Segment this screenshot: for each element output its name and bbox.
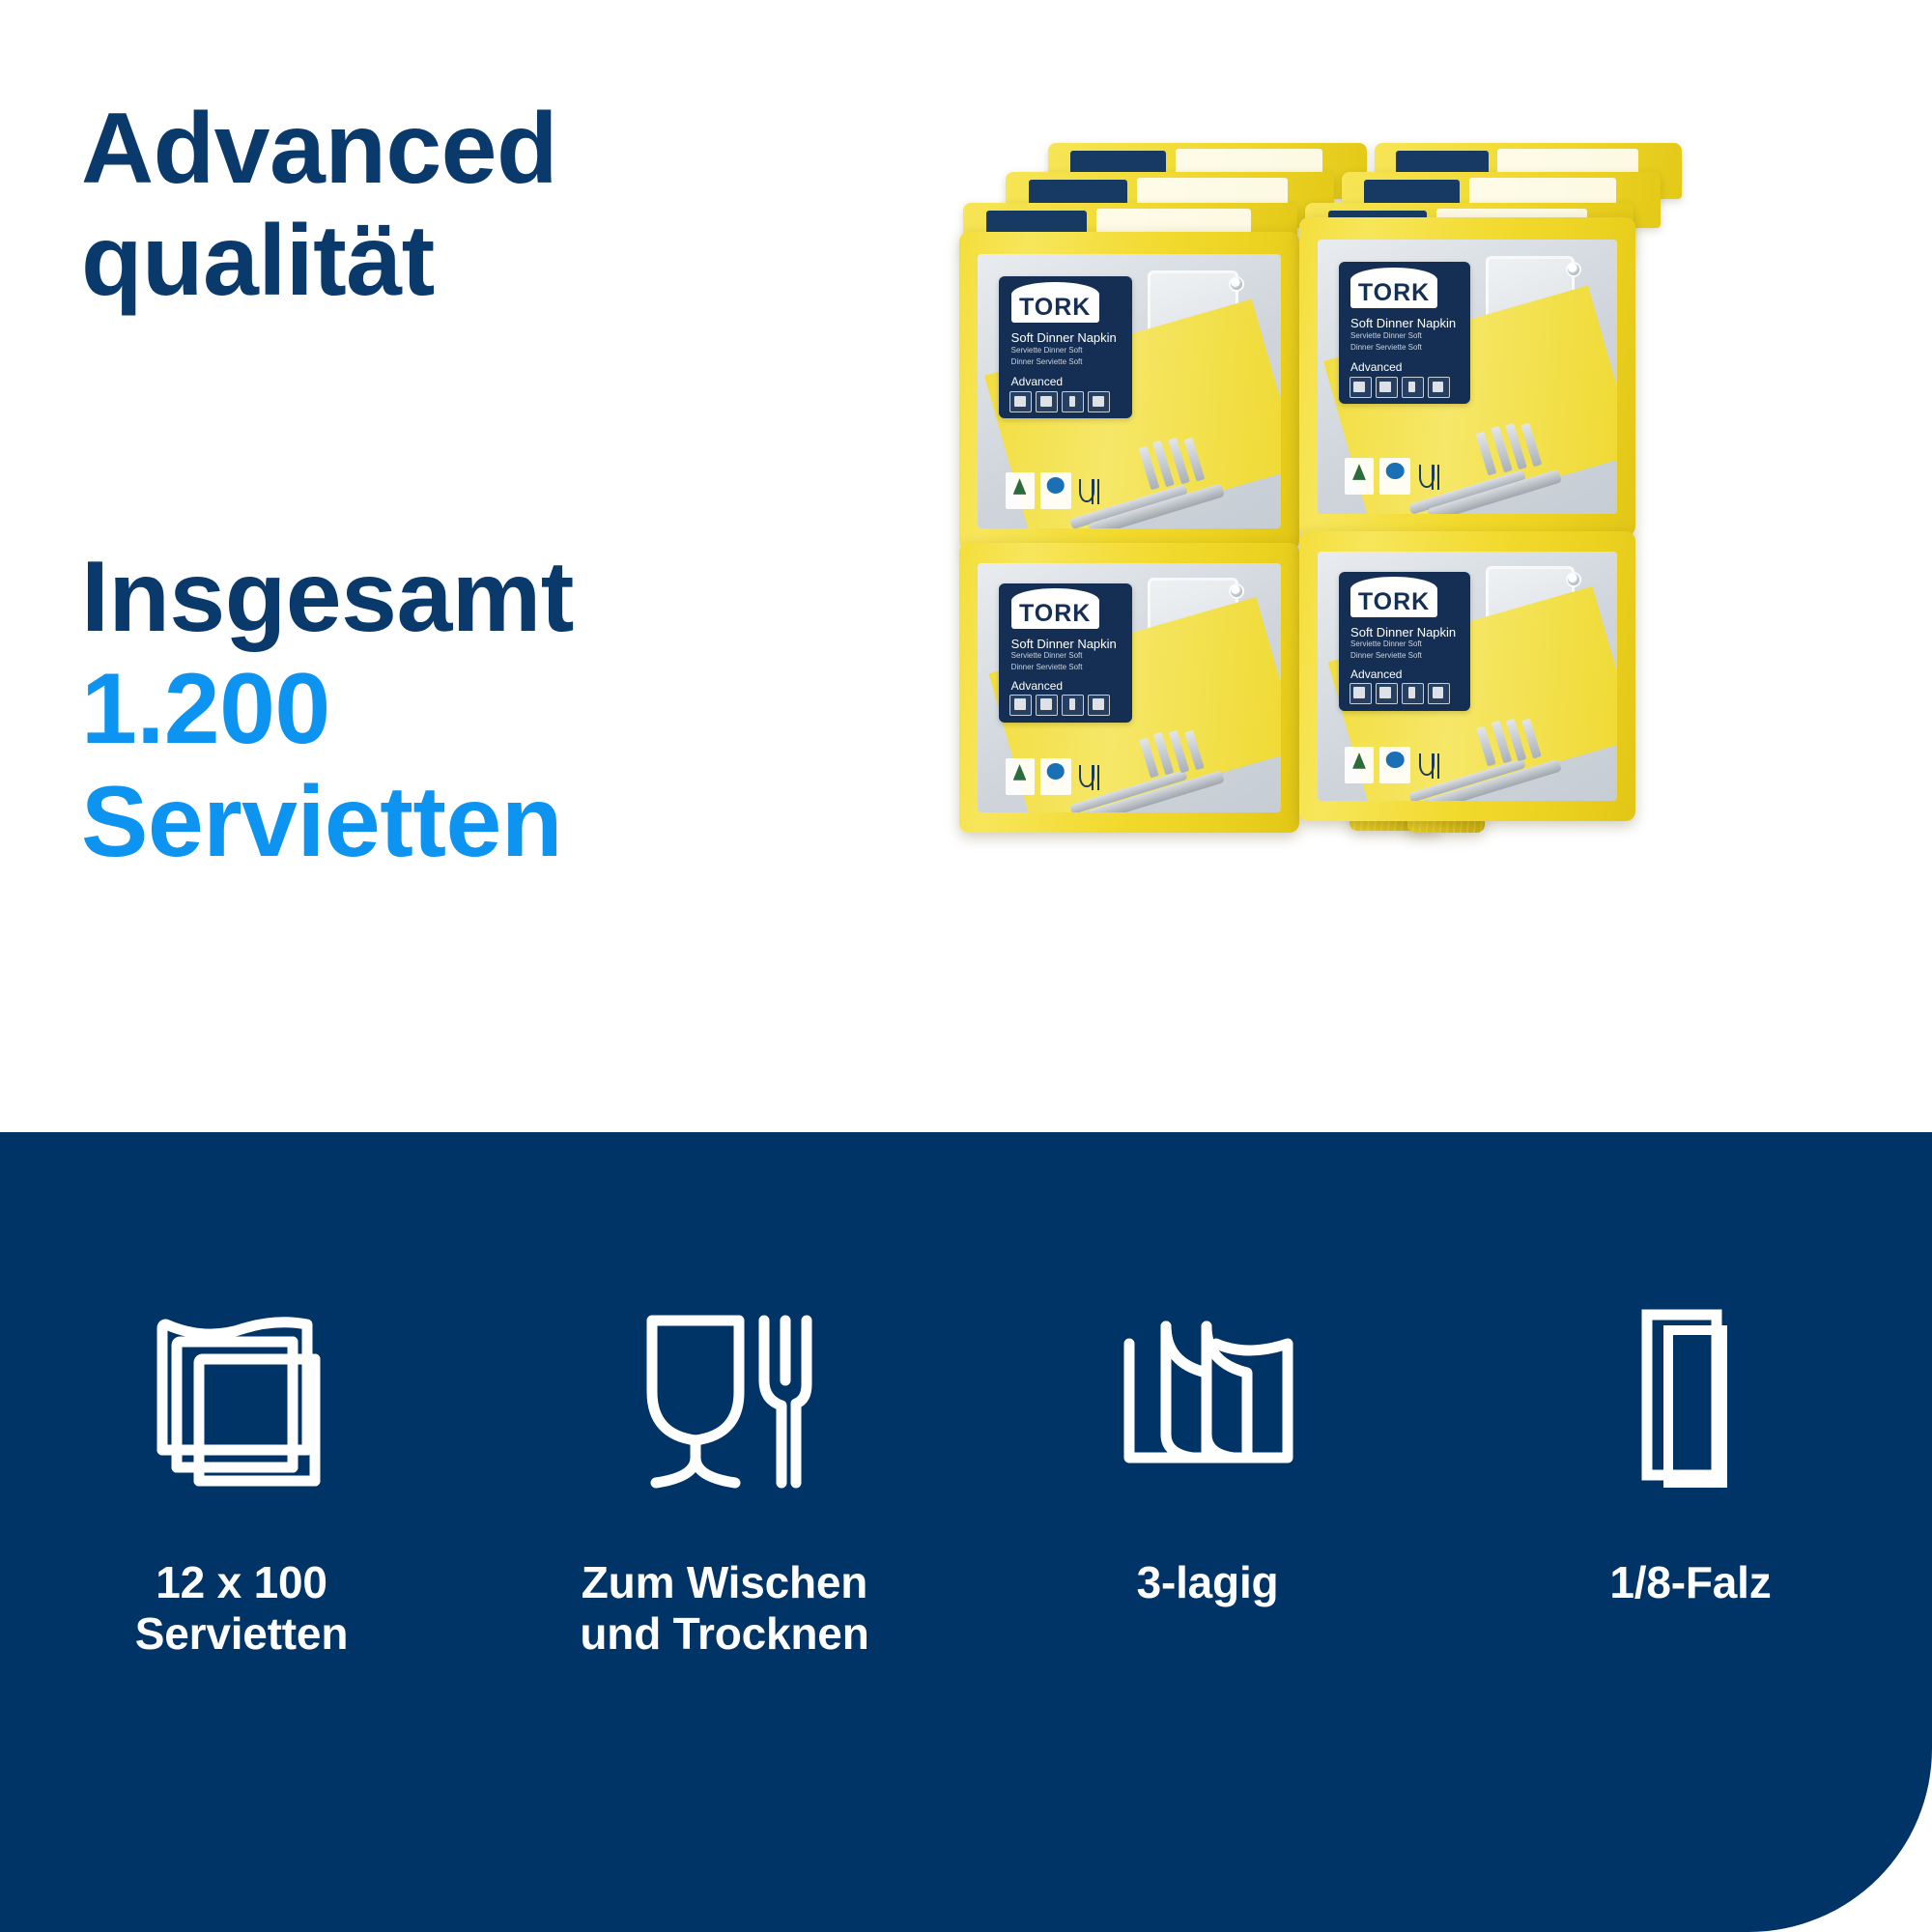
subhead-total-label: Insgesamt — [81, 541, 854, 653]
ecolabel-badge-icon — [1379, 747, 1410, 783]
spec-icon-sheets — [1350, 683, 1372, 704]
ecolabel-badge-icon — [1040, 472, 1071, 509]
tork-logo: TORK — [1350, 277, 1437, 308]
spec-icon-size — [1376, 683, 1398, 704]
pack-window: TORK Soft Dinner Napkin Serviette Dinner… — [1318, 552, 1617, 801]
label-bullet-2: Dinner Serviette Soft — [1350, 343, 1422, 352]
feature-label: 3-lagig — [1137, 1557, 1279, 1608]
feature-icon-wrap — [621, 1246, 829, 1536]
feature-icon-wrap — [1587, 1246, 1795, 1536]
subhead-count-number: 1.200 — [81, 653, 854, 765]
food-safe-badge-icon — [1416, 462, 1443, 495]
feature-label: 1/8-Falz — [1609, 1557, 1771, 1608]
spec-icon-fold — [1402, 683, 1424, 704]
page-title: Advanced qualität — [81, 93, 815, 318]
label-bullet-1: Serviette Dinner Soft — [1011, 346, 1083, 355]
label-spec-icon-row — [1009, 391, 1110, 412]
fsc-badge-icon — [1006, 758, 1035, 795]
tork-logo: TORK — [1011, 599, 1099, 630]
pack-window: TORK Soft Dinner Napkin Serviette Dinner… — [978, 254, 1280, 528]
label-bullet-1: Serviette Dinner Soft — [1350, 639, 1422, 648]
pack-rivet-icon — [1566, 572, 1581, 587]
product-pack: TORK Soft Dinner Napkin Serviette Dinner… — [1299, 531, 1635, 821]
spec-icon-sheets — [1009, 391, 1032, 412]
certification-badges — [1345, 458, 1443, 495]
label-quality: Advanced — [1011, 375, 1063, 388]
food-safe-badge-icon — [1077, 762, 1104, 795]
pack-body: TORK Soft Dinner Napkin Serviette Dinner… — [959, 543, 1299, 833]
feature-icon-wrap — [138, 1246, 346, 1536]
feature-label: Zum Wischenund Trocknen — [580, 1557, 868, 1661]
glass-and-fork-icon — [621, 1288, 829, 1495]
food-safe-badge-icon — [1416, 751, 1443, 783]
stacked-napkins-icon — [138, 1288, 346, 1495]
pack-rivet-icon — [1229, 276, 1244, 292]
tork-product-label: TORK Soft Dinner Napkin Serviette Dinner… — [999, 583, 1132, 723]
product-pack: TORK Soft Dinner Napkin Serviette Dinner… — [1299, 217, 1635, 536]
pack-rivet-icon — [1229, 583, 1244, 599]
subhead-block: Insgesamt 1.200 Servietten — [81, 541, 854, 878]
spec-icon-size — [1376, 377, 1398, 398]
spec-icon-fold — [1062, 391, 1084, 412]
certification-badges — [1006, 758, 1104, 795]
tork-product-label: TORK Soft Dinner Napkin Serviette Dinner… — [1339, 262, 1470, 405]
label-title: Soft Dinner Napkin — [1350, 316, 1456, 330]
pack-body: TORK Soft Dinner Napkin Serviette Dinner… — [959, 232, 1299, 551]
tork-product-label: TORK Soft Dinner Napkin Serviette Dinner… — [1339, 572, 1470, 711]
spec-icon-ply — [1428, 377, 1450, 398]
label-bullet-1: Serviette Dinner Soft — [1011, 651, 1083, 660]
feature-item-wischen-trocknen: Zum Wischenund Trocknen — [483, 1246, 966, 1787]
pack-body: TORK Soft Dinner Napkin Serviette Dinner… — [1299, 217, 1635, 536]
label-title: Soft Dinner Napkin — [1350, 625, 1456, 639]
feature-item-3-lagig: 3-lagig — [966, 1246, 1449, 1787]
label-quality: Advanced — [1011, 679, 1063, 693]
label-spec-icon-row — [1350, 377, 1450, 398]
spec-icon-sheets — [1009, 695, 1032, 716]
certification-badges — [1006, 472, 1104, 509]
feature-item-falz: 1/8-Falz — [1449, 1246, 1932, 1787]
spec-icon-ply — [1428, 683, 1450, 704]
pack-window: TORK Soft Dinner Napkin Serviette Dinner… — [978, 563, 1280, 812]
label-title: Soft Dinner Napkin — [1011, 330, 1117, 345]
fsc-badge-icon — [1006, 472, 1035, 509]
spec-icon-fold — [1402, 377, 1424, 398]
spec-icon-ply — [1088, 391, 1110, 412]
headline-block: Advanced qualität — [81, 93, 815, 318]
tork-logo-text: TORK — [1019, 294, 1091, 322]
feature-row: 12 x 100Servietten Zum Wischenund Trock — [0, 1246, 1932, 1787]
food-safe-badge-icon — [1077, 476, 1104, 509]
feature-item-servietten: 12 x 100Servietten — [0, 1246, 483, 1787]
tork-logo: TORK — [1350, 587, 1437, 618]
label-bullet-2: Dinner Serviette Soft — [1011, 663, 1083, 671]
tork-logo-text: TORK — [1358, 279, 1430, 307]
feature-panel: 12 x 100Servietten Zum Wischenund Trock — [0, 1132, 1932, 1932]
label-title: Soft Dinner Napkin — [1011, 637, 1117, 651]
ecolabel-badge-icon — [1040, 758, 1071, 795]
label-spec-icon-row — [1350, 683, 1450, 704]
ecolabel-badge-icon — [1379, 458, 1410, 495]
label-spec-icon-row — [1009, 695, 1110, 716]
tork-product-label: TORK Soft Dinner Napkin Serviette Dinner… — [999, 276, 1132, 419]
product-pack: TORK Soft Dinner Napkin Serviette Dinner… — [959, 543, 1299, 833]
label-bullet-2: Dinner Serviette Soft — [1011, 357, 1083, 366]
spec-icon-size — [1036, 391, 1058, 412]
subhead-count-unit: Servietten — [81, 766, 854, 878]
spec-icon-sheets — [1350, 377, 1372, 398]
label-quality: Advanced — [1350, 360, 1402, 374]
label-bullet-1: Serviette Dinner Soft — [1350, 331, 1422, 340]
pack-body: TORK Soft Dinner Napkin Serviette Dinner… — [1299, 531, 1635, 821]
eighth-fold-icon — [1587, 1288, 1795, 1495]
feature-icon-wrap — [1104, 1246, 1312, 1536]
product-pack-stack: TORK Soft Dinner Napkin Serviette Dinner… — [913, 126, 1879, 831]
label-quality: Advanced — [1350, 668, 1402, 681]
product-pack: TORK Soft Dinner Napkin Serviette Dinner… — [959, 232, 1299, 551]
tork-logo-text: TORK — [1019, 600, 1091, 628]
fsc-badge-icon — [1345, 747, 1374, 783]
feature-label: 12 x 100Servietten — [135, 1557, 348, 1661]
pack-window: TORK Soft Dinner Napkin Serviette Dinner… — [1318, 240, 1617, 514]
label-bullet-2: Dinner Serviette Soft — [1350, 651, 1422, 660]
spec-icon-fold — [1062, 695, 1084, 716]
certification-badges — [1345, 747, 1443, 783]
spec-icon-ply — [1088, 695, 1110, 716]
tork-logo: TORK — [1011, 292, 1099, 323]
spec-icon-size — [1036, 695, 1058, 716]
three-ply-layers-icon — [1104, 1288, 1312, 1495]
product-marketing-image: Advanced qualität Insgesamt 1.200 Servie… — [0, 0, 1932, 1932]
fsc-badge-icon — [1345, 458, 1374, 495]
pack-rivet-icon — [1566, 262, 1581, 277]
tork-logo-text: TORK — [1358, 588, 1430, 616]
top-white-section: Advanced qualität Insgesamt 1.200 Servie… — [0, 0, 1932, 1132]
